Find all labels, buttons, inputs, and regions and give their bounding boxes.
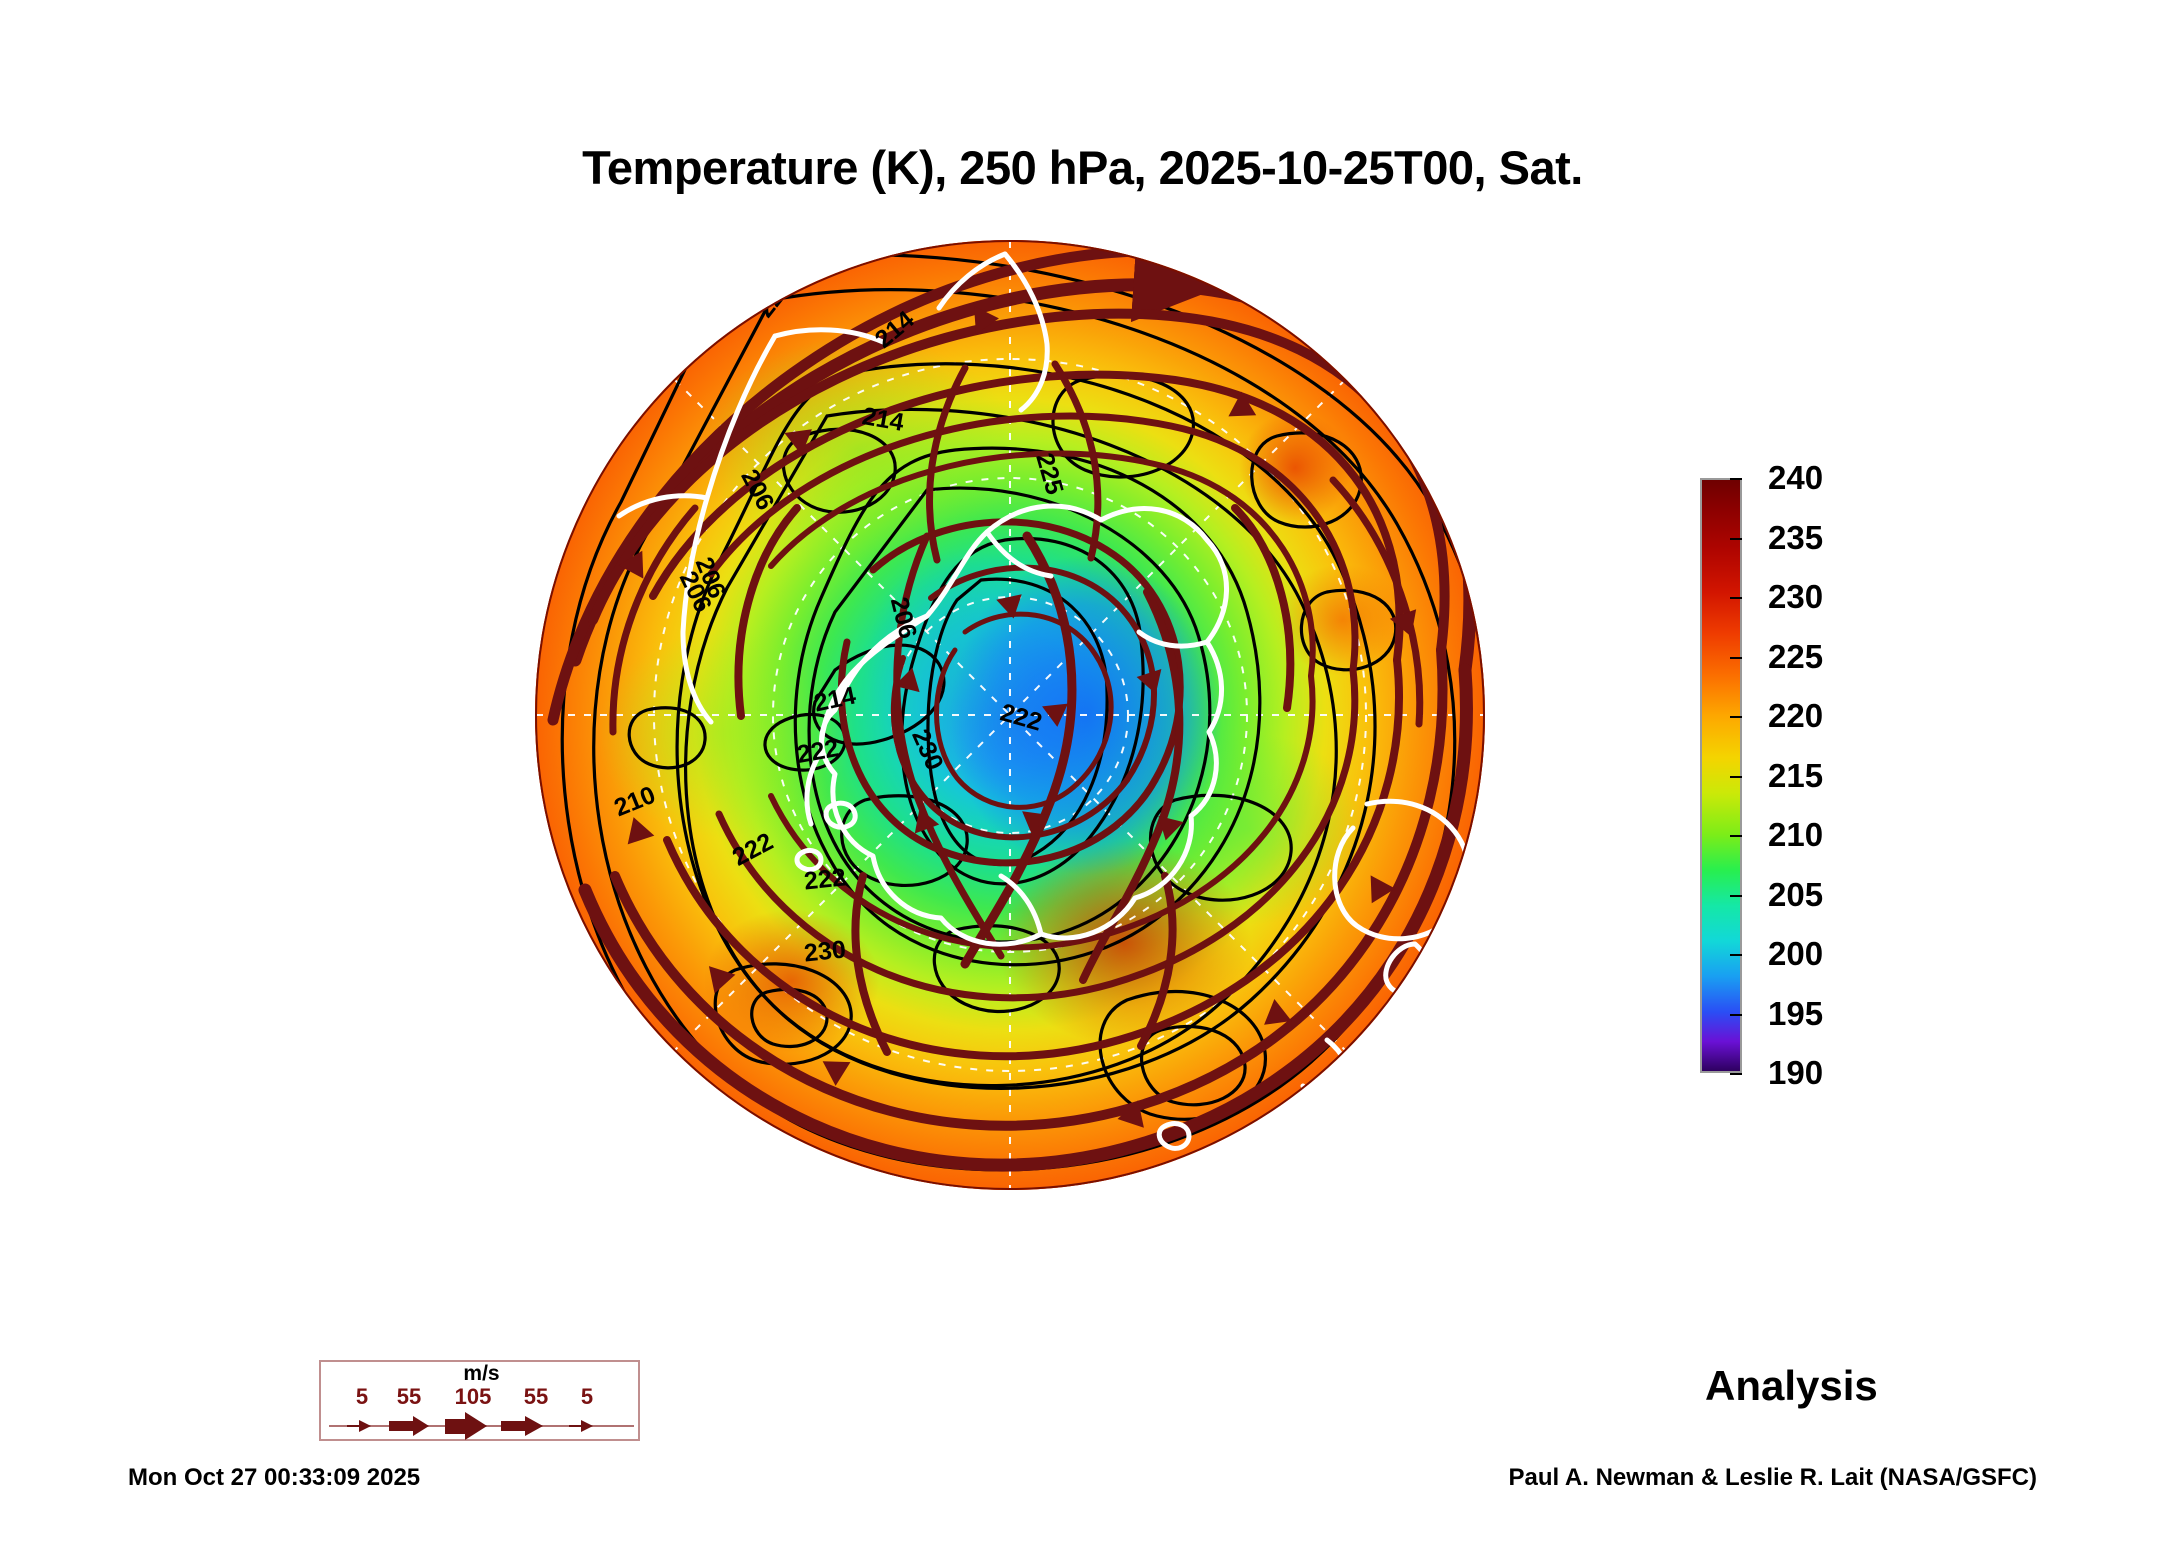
wind-legend-value: 105 xyxy=(455,1384,492,1410)
wind-units-label: m/s xyxy=(321,1362,642,1386)
colorbar-tick xyxy=(1730,835,1742,837)
contour-label: 230 xyxy=(803,935,848,968)
colorbar-tick xyxy=(1730,1073,1742,1075)
colorbar-tick-label: 190 xyxy=(1768,1054,1823,1092)
colorbar-tick-label: 205 xyxy=(1768,876,1823,914)
wind-legend-value: 5 xyxy=(356,1384,368,1410)
page-title: Temperature (K), 250 hPa, 2025-10-25T00,… xyxy=(0,140,2165,195)
colorbar-tick xyxy=(1730,657,1742,659)
colorbar-tick-label: 235 xyxy=(1768,519,1823,557)
colorbar-tick xyxy=(1730,716,1742,718)
colorbar-tick xyxy=(1730,538,1742,540)
wind-legend-value: 5 xyxy=(581,1384,593,1410)
wind-legend-arrows xyxy=(321,1410,642,1442)
analysis-label: Analysis xyxy=(1705,1362,1878,1410)
colorbar-tick-label: 215 xyxy=(1768,757,1823,795)
colorbar-tick xyxy=(1730,1014,1742,1016)
contour-label: 222 xyxy=(803,863,848,896)
generation-timestamp: Mon Oct 27 00:33:09 2025 xyxy=(128,1464,420,1492)
colorbar[interactable]: 240235230225220215210205200195190 xyxy=(1700,478,2000,1078)
colorbar-tick-label: 230 xyxy=(1768,578,1823,616)
colorbar-tick-label: 220 xyxy=(1768,697,1823,735)
wind-legend-value: 55 xyxy=(524,1384,548,1410)
colorbar-tick-label: 240 xyxy=(1768,459,1823,497)
colorbar-tick-label: 225 xyxy=(1768,638,1823,676)
colorbar-tick-label: 210 xyxy=(1768,816,1823,854)
colorbar-tick xyxy=(1730,954,1742,956)
colorbar-tick xyxy=(1730,478,1742,480)
wind-legend-value: 55 xyxy=(397,1384,421,1410)
colorbar-tick xyxy=(1730,776,1742,778)
coastlines xyxy=(619,254,1469,1148)
colorbar-tick xyxy=(1730,895,1742,897)
colorbar-tick-label: 195 xyxy=(1768,995,1823,1033)
polar-map-panel[interactable]: 2302222142142062062062062142222222302222… xyxy=(535,240,1485,1190)
author-credit: Paul A. Newman & Leslie R. Lait (NASA/GS… xyxy=(1508,1464,2037,1492)
polar-projection-disk[interactable]: 2302222142142062062062062142222222302222… xyxy=(535,240,1485,1190)
colorbar-tick-label: 200 xyxy=(1768,935,1823,973)
wind-speed-legend[interactable]: m/s 555105555 xyxy=(319,1360,640,1441)
colorbar-tick xyxy=(1730,597,1742,599)
